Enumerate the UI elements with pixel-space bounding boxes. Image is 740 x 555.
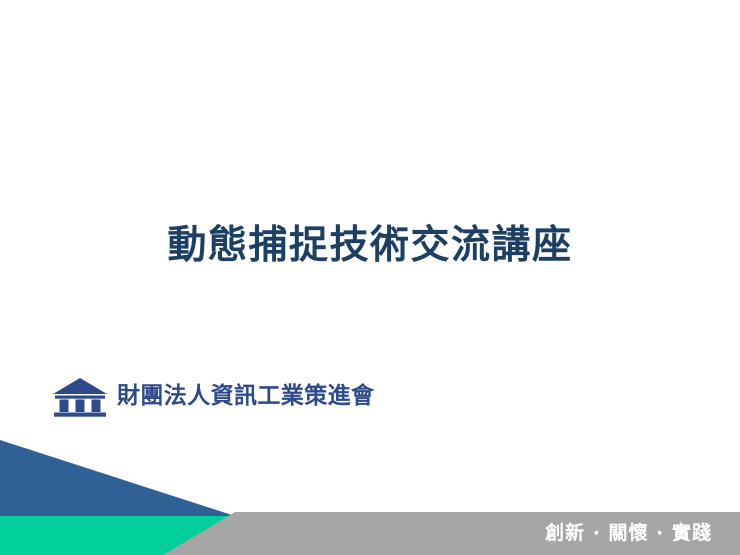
slide-title-block: 動態捕捉技術交流講座	[0, 226, 740, 267]
blue-triangle-shape	[0, 440, 235, 516]
footer-slogan: 創新 · 關懷 · 實踐	[545, 524, 712, 543]
slide-decoration-group	[0, 0, 740, 555]
logo-mark-shapes	[53, 378, 107, 417]
slide-title: 動態捕捉技術交流講座	[167, 226, 572, 267]
organization-logo-lockup: 財團法人資訊工業策進會	[52, 376, 374, 418]
iii-institute-building-logo-icon	[52, 376, 108, 418]
organization-wordmark: 財團法人資訊工業策進會	[117, 385, 374, 410]
presentation-slide: 動態捕捉技術交流講座 財團法人資訊工業策進會 創新 · 關懷 · 實踐	[0, 0, 740, 555]
green-wedge-shape	[0, 516, 362, 555]
